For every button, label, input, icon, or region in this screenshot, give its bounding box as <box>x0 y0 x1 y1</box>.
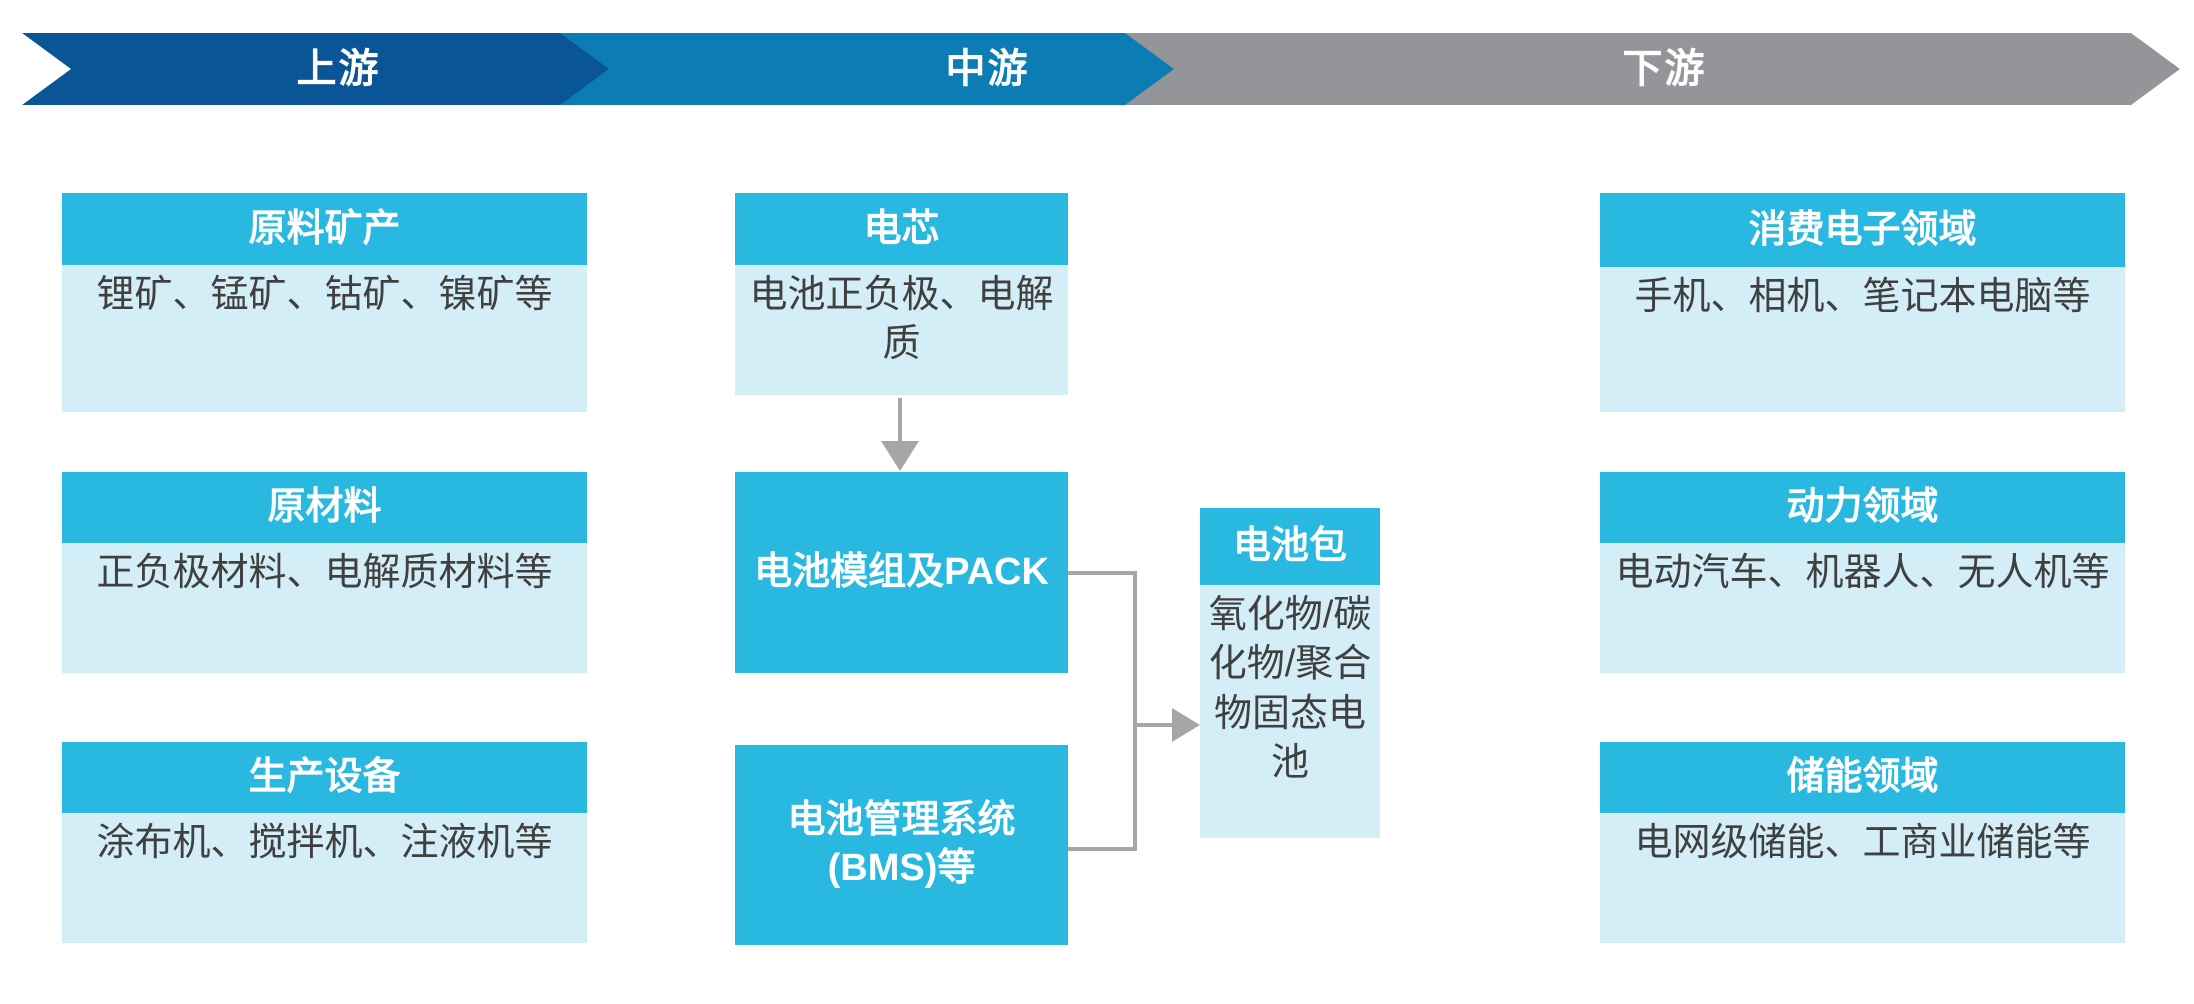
card-body: 锂矿、锰矿、钴矿、镍矿等 <box>62 265 587 412</box>
stage-chevron-downstream[interactable]: 下游 <box>1125 33 2180 105</box>
card-production-equipment[interactable]: 生产设备 涂布机、搅拌机、注液机等 <box>62 742 587 943</box>
card-battery-module-pack[interactable]: 电池模组及PACK <box>735 472 1068 673</box>
card-title: 储能领域 <box>1600 742 2125 813</box>
bms-to-pack-connector-bottom <box>1068 847 1137 851</box>
card-battery-cell[interactable]: 电芯 电池正负极、电解质 <box>735 193 1068 395</box>
cell-to-module-connector-line <box>898 398 902 442</box>
card-body: 正负极材料、电解质材料等 <box>62 543 587 673</box>
card-power-mobility[interactable]: 动力领域 电动汽车、机器人、无人机等 <box>1600 472 2125 673</box>
card-body: 电池正负极、电解质 <box>735 265 1068 395</box>
card-title: 消费电子领域 <box>1600 193 2125 267</box>
card-title: 原料矿产 <box>62 193 587 265</box>
card-body: 涂布机、搅拌机、注液机等 <box>62 813 587 943</box>
card-battery-pack[interactable]: 电池包 氧化物/碳化物/聚合物固态电池 <box>1200 508 1380 838</box>
module-bms-to-pack-arrow-icon <box>1172 708 1200 742</box>
stage-label-upstream: 上游 <box>297 49 381 89</box>
card-body: 电动汽车、机器人、无人机等 <box>1600 543 2125 673</box>
card-energy-storage[interactable]: 储能领域 电网级储能、工商业储能等 <box>1600 742 2125 943</box>
pack-connector-stem <box>1133 723 1175 727</box>
module-bms-connector-vertical <box>1133 571 1137 851</box>
industry-chain-diagram: 上游 中游 下游 原料矿产 锂矿、锰矿、钴矿、镍矿等 原材料 正负极材料、电解质… <box>0 0 2194 1004</box>
card-raw-materials[interactable]: 原材料 正负极材料、电解质材料等 <box>62 472 587 673</box>
card-title: 动力领域 <box>1600 472 2125 543</box>
card-title: 电池包 <box>1200 508 1380 585</box>
card-title: 原材料 <box>62 472 587 543</box>
stage-label-downstream: 下游 <box>1623 49 1707 89</box>
stage-chevron-upstream[interactable]: 上游 <box>22 33 655 105</box>
stage-label-midstream: 中游 <box>946 49 1030 89</box>
card-battery-management-system[interactable]: 电池管理系统(BMS)等 <box>735 745 1068 945</box>
card-consumer-electronics[interactable]: 消费电子领域 手机、相机、笔记本电脑等 <box>1600 193 2125 412</box>
module-to-pack-connector-top <box>1068 571 1137 575</box>
card-title: 生产设备 <box>62 742 587 813</box>
card-body: 手机、相机、笔记本电脑等 <box>1600 267 2125 412</box>
card-title: 电芯 <box>735 193 1068 265</box>
cell-to-module-arrow-icon <box>881 441 919 471</box>
card-raw-minerals[interactable]: 原料矿产 锂矿、锰矿、钴矿、镍矿等 <box>62 193 587 412</box>
card-body: 电网级储能、工商业储能等 <box>1600 813 2125 943</box>
card-body: 氧化物/碳化物/聚合物固态电池 <box>1200 585 1380 838</box>
